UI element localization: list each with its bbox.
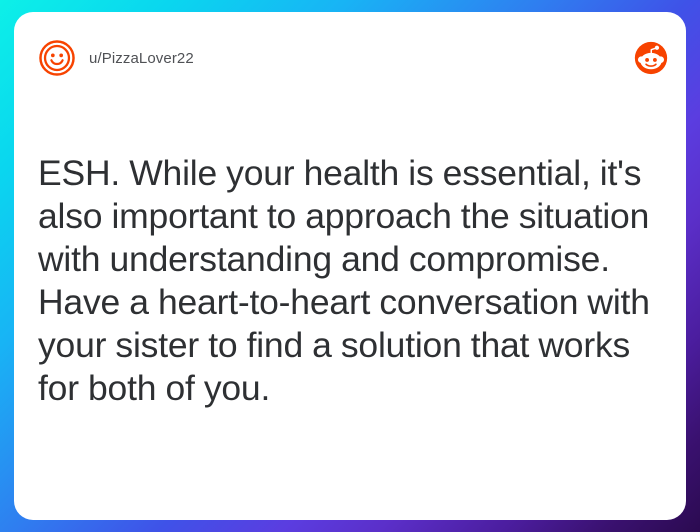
username-label[interactable]: u/PizzaLover22 — [89, 50, 194, 67]
post-card: u/PizzaLover22 ESH. While your health is… — [14, 12, 686, 520]
post-header: u/PizzaLover22 — [14, 12, 686, 104]
avatar-smiley-icon[interactable] — [38, 39, 76, 77]
post-body: ESH. While your health is essential, it'… — [38, 152, 658, 410]
reddit-snoo-icon[interactable] — [634, 41, 668, 75]
post-text: ESH. While your health is essential, it'… — [38, 152, 658, 410]
